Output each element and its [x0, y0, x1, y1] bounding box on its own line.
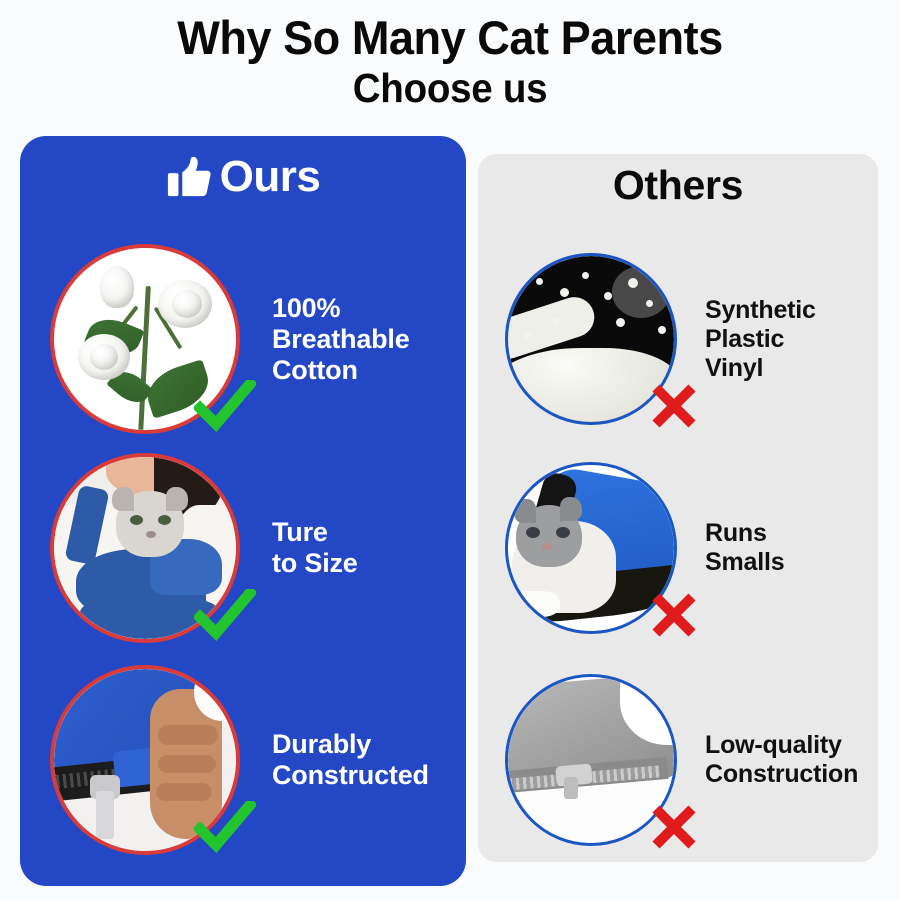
ours-row-1-text: 100% Breathable Cotton — [272, 293, 470, 386]
others-row-2: Runs Smalls — [505, 452, 885, 644]
cat-in-blue-sling-photo — [54, 457, 236, 639]
hand-holding-zippered-blue-fabric-photo — [54, 669, 236, 851]
cat-squeezed-in-blue-bag-photo-wrap — [505, 462, 677, 634]
others-circle-1 — [505, 253, 677, 425]
grey-zipper-closeup-photo — [508, 677, 674, 843]
others-label: Others — [613, 162, 743, 208]
others-media-2 — [505, 462, 677, 634]
title-line-1: Why So Many Cat Parents — [18, 12, 882, 64]
ours-row-2: Ture to Size — [50, 452, 470, 644]
ours-media-2 — [50, 453, 240, 643]
ours-media-1 — [50, 244, 240, 434]
page-title: Why So Many Cat Parents Choose us — [0, 12, 900, 112]
thumbs-up-icon — [166, 154, 212, 200]
others-circle-3 — [505, 674, 677, 846]
others-row-2-text: Runs Smalls — [705, 519, 885, 577]
others-row-1-text: Synthetic Plastic Vinyl — [705, 296, 885, 383]
others-column-header: Others — [478, 160, 878, 210]
others-row-3-text: Low-quality Construction — [705, 731, 885, 789]
white-plastic-pellets-photo — [508, 256, 674, 422]
ours-label: Ours — [220, 152, 321, 202]
ours-circle-1 — [50, 244, 240, 434]
others-media-3 — [505, 674, 677, 846]
ours-circle-2 — [50, 453, 240, 643]
ours-column-header: Ours — [20, 152, 466, 202]
ours-row-1: 100% Breathable Cotton — [50, 243, 470, 435]
cat-squeezed-in-blue-bag-photo — [508, 465, 674, 631]
others-row-3: Low-quality Construction — [505, 664, 885, 856]
others-media-1 — [505, 253, 677, 425]
others-row-1: Synthetic Plastic Vinyl — [505, 243, 885, 435]
ours-row-3: Durably Constructed — [50, 664, 470, 856]
cotton-plant-photo — [54, 248, 236, 430]
title-line-2: Choose us — [27, 64, 873, 112]
ours-row-2-text: Ture to Size — [272, 517, 470, 579]
ours-media-3 — [50, 665, 240, 855]
ours-row-3-text: Durably Constructed — [272, 729, 470, 791]
ours-circle-3 — [50, 665, 240, 855]
